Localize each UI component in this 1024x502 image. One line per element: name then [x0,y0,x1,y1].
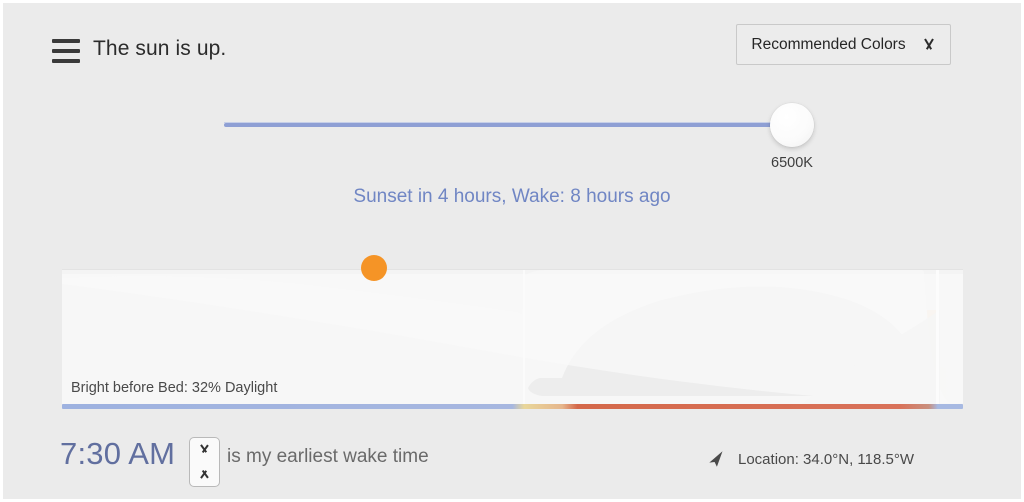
hamburger-bar [52,49,80,53]
chevron-down-icon [922,38,936,52]
chart-caption: Bright before Bed: 32% Daylight [71,380,277,396]
dropdown-label: Recommended Colors [751,36,905,54]
page-title: The sun is up. [93,37,226,61]
slider-knob[interactable] [770,103,814,147]
app-header: The sun is up. Recommended Colors [3,3,1021,91]
slider-track[interactable] [224,123,790,127]
recommended-colors-dropdown[interactable]: Recommended Colors [736,24,951,65]
location-text: Location: 34.0°N, 118.5°W [738,451,914,468]
wake-time-label: is my earliest wake time [227,446,429,468]
sun-status-text: Sunset in 4 hours, Wake: 8 hours ago [3,186,1021,208]
hamburger-bar [52,59,80,63]
wake-time-stepper[interactable] [189,437,220,487]
slider-value-label: 6500K [742,155,842,171]
wake-time-value[interactable]: 7:30 AM [60,436,175,472]
wake-divider [936,270,939,404]
color-temperature-slider[interactable]: 6500K [224,113,804,173]
chevron-up-icon[interactable] [190,438,219,462]
sunset-divider [523,270,525,404]
chart-top-edge [62,269,963,270]
app-window: The sun is up. Recommended Colors 6500K … [3,3,1021,499]
navigation-arrow-icon [706,449,726,469]
location-readout: Location: 34.0°N, 118.5°W [706,449,914,469]
sun-dot-icon[interactable] [361,255,387,281]
color-temperature-strip [62,404,963,409]
hamburger-bar [52,39,80,43]
app-footer: 7:30 AM is my earliest wake time Locatio… [3,427,1021,499]
chevron-down-icon[interactable] [190,462,219,486]
hamburger-menu-icon[interactable] [52,39,80,63]
